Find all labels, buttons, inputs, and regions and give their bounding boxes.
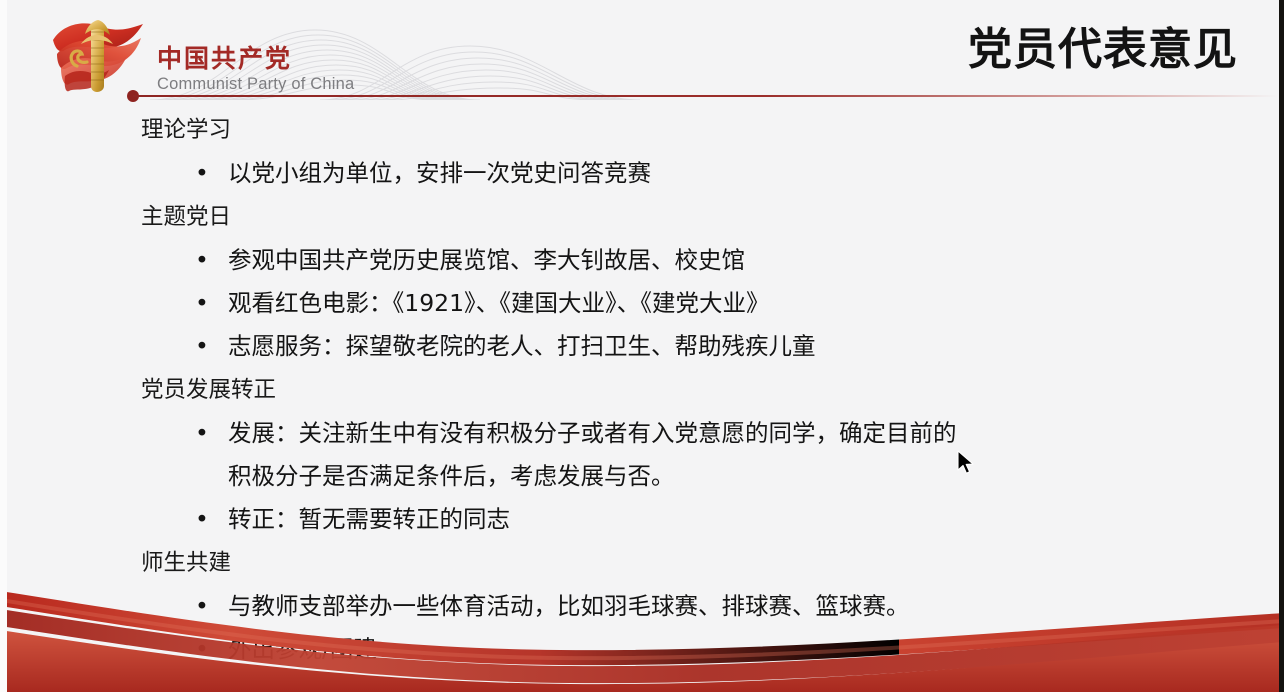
bullet-marker-icon: •: [195, 412, 209, 455]
brand-name-cn: 中国共产党: [157, 44, 354, 73]
bullet-marker-icon: •: [195, 628, 209, 671]
bullet-text: 参观中国共产党历史展览馆、李大钊故居、校史馆: [228, 246, 745, 274]
bullet-item: •发展：关注新生中有没有积极分子或者有入党意愿的同学，确定目前的积极分子是否满足…: [228, 412, 973, 498]
bullet-text: 与教师支部举办一些体育活动，比如羽毛球赛、排球赛、篮球赛。: [228, 592, 910, 620]
bullet-text: 志愿服务：探望敬老院的老人、打扫卫生、帮助残疾儿童: [228, 332, 816, 360]
bullet-marker-icon: •: [195, 282, 209, 325]
section-heading: 师生共建: [141, 541, 1284, 585]
bullet-item: •与教师支部举办一些体育活动，比如羽毛球赛、排球赛、篮球赛。: [228, 585, 973, 628]
section-heading: 理论学习: [141, 108, 1284, 152]
bullet-marker-icon: •: [195, 152, 209, 195]
slide-content: 理论学习•以党小组为单位，安排一次党史问答竞赛主题党日•参观中国共产党历史展览馆…: [0, 108, 1284, 668]
bullet-text: 观看红色电影：《1921》、《建国大业》、《建党大业》: [228, 289, 770, 317]
bullet-text: 外出参观/团建: [228, 635, 377, 663]
bullet-item: •转正：暂无需要转正的同志: [228, 498, 973, 541]
bullet-marker-icon: •: [195, 325, 209, 368]
bullet-item: •志愿服务：探望敬老院的老人、打扫卫生、帮助残疾儿童: [228, 325, 973, 368]
bullet-marker-icon: •: [195, 585, 209, 628]
section-heading: 主题党日: [141, 195, 1284, 239]
cpc-flag-emblem-icon: [47, 18, 153, 94]
bullet-text: 转正：暂无需要转正的同志: [228, 505, 510, 533]
bullet-item: •参观中国共产党历史展览馆、李大钊故居、校史馆: [228, 239, 973, 282]
bullet-text: 以党小组为单位，安排一次党史问答竞赛: [228, 159, 651, 187]
bullet-item: •外出参观/团建: [228, 628, 973, 671]
bullet-marker-icon: •: [195, 498, 209, 541]
header-divider: [133, 95, 1278, 97]
slide-header: 中国共产党 Communist Party of China 党员代表意见: [0, 0, 1284, 104]
brand-lockup: 中国共产党 Communist Party of China: [157, 44, 354, 94]
slide-title: 党员代表意见: [968, 21, 1238, 79]
slide-left-edge: [0, 0, 7, 692]
presentation-slide: 中国共产党 Communist Party of China 党员代表意见 理论…: [0, 0, 1284, 692]
bullet-item: •以党小组为单位，安排一次党史问答竞赛: [228, 152, 973, 195]
bullet-marker-icon: •: [195, 239, 209, 282]
slide-right-edge: [1279, 0, 1284, 692]
bullet-item: •观看红色电影：《1921》、《建国大业》、《建党大业》: [228, 282, 973, 325]
mouse-pointer-icon: [956, 450, 976, 476]
section-heading: 党员发展转正: [141, 368, 1284, 412]
bullet-text: 发展：关注新生中有没有积极分子或者有入党意愿的同学，确定目前的积极分子是否满足条…: [228, 419, 957, 490]
brand-name-en: Communist Party of China: [157, 74, 354, 94]
